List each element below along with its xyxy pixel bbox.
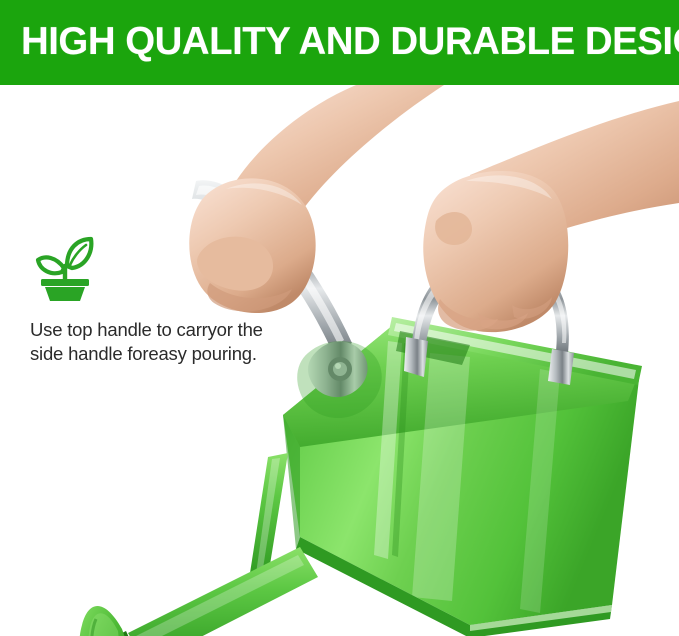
callout-caption: Use top handle to carryor the side handl… — [30, 318, 290, 366]
page-title: HIGH QUALITY AND DURABLE DESIGN — [21, 21, 659, 63]
callout-caption-line-2: side handle foreasy pouring. — [30, 343, 257, 364]
product-feature-image: HIGH QUALITY AND DURABLE DESIGN — [0, 0, 679, 636]
callout-caption-line-1: Use top handle to carryor the — [30, 319, 263, 340]
potted-plant-icon — [34, 236, 96, 302]
feature-callout: Use top handle to carryor the side handl… — [28, 236, 290, 366]
header-banner: HIGH QUALITY AND DURABLE DESIGN — [0, 0, 679, 85]
